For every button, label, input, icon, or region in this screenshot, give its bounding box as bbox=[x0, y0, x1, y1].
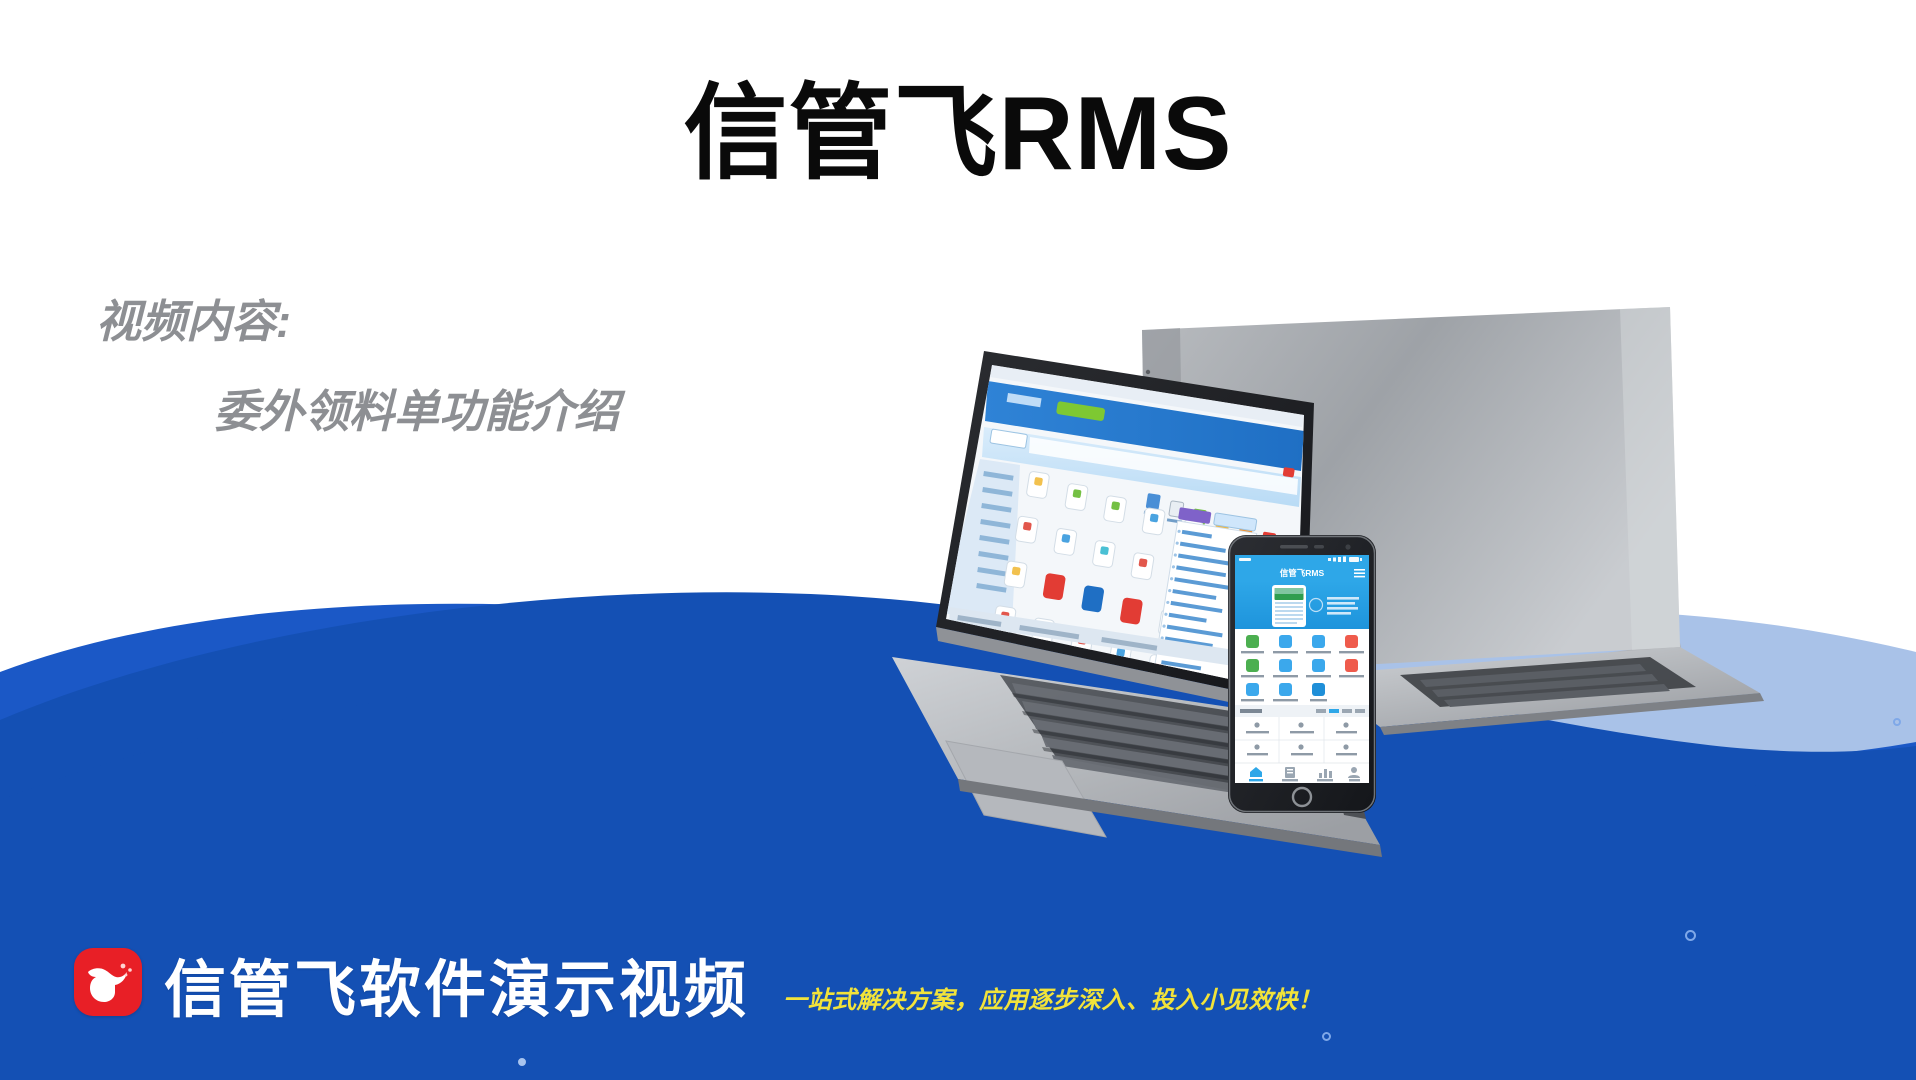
video-content-topic: 委外领料单功能介绍 bbox=[96, 378, 619, 446]
video-content-block: 视频内容: 委外领料单功能介绍 bbox=[96, 288, 619, 445]
hamburger-menu-icon bbox=[1354, 569, 1365, 577]
video-content-label: 视频内容: bbox=[96, 296, 291, 347]
phone-app-title: 信管飞RMS bbox=[1280, 568, 1325, 578]
smartphone-mobile-app: 信管飞RMS bbox=[1228, 535, 1376, 813]
document-icon bbox=[1285, 767, 1295, 778]
brand-bird-logo-icon bbox=[74, 948, 142, 1016]
decor-dot bbox=[518, 1058, 526, 1066]
footer-brand-bar: 信管飞软件演示视频 一站式解决方案，应用逐步深入、投入小见效快！ bbox=[74, 948, 1322, 1022]
brand-name: 信管飞软件演示视频 bbox=[164, 960, 749, 1022]
page-title: 信管飞RMS bbox=[0, 78, 1916, 190]
brand-tagline: 一站式解决方案，应用逐步深入、投入小见效快！ bbox=[783, 989, 1322, 1013]
device-mockup-scene: 信管飞RMS bbox=[880, 375, 1916, 935]
decor-dot bbox=[1322, 1032, 1331, 1041]
presentation-slide: 信管飞RMS 视频内容: 委外领料单功能介绍 bbox=[0, 0, 1916, 1080]
